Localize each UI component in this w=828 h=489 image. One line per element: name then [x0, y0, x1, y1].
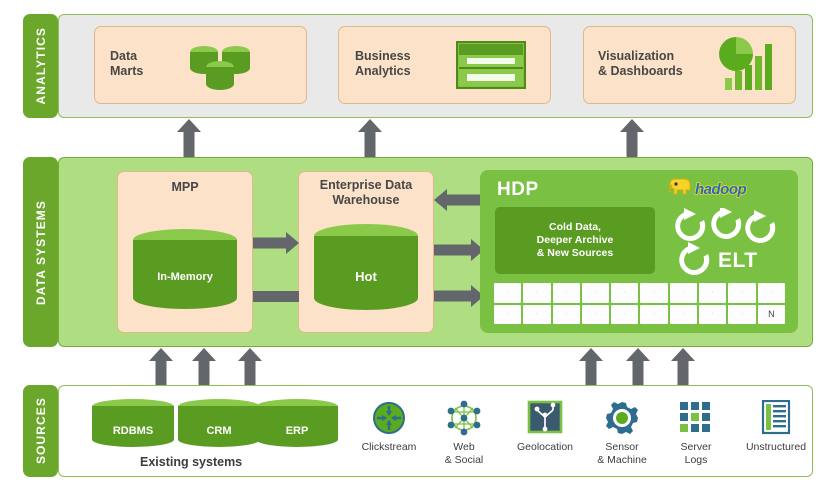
hadoop-elephant-icon	[667, 176, 693, 202]
hdp-node-grid: ···················N	[494, 283, 785, 324]
arrow-source-to-ds-1	[148, 348, 174, 386]
data-marts-cylinders-icon	[185, 36, 255, 92]
source-cylinder-crm: CRM	[178, 399, 260, 447]
source-icon-sensor-machine[interactable]: Sensor & Machine	[578, 398, 666, 466]
arrow-edw-to-analytics	[357, 119, 383, 161]
hdp-node-cell: ·	[523, 305, 550, 325]
hdp-node-cell: ·	[582, 305, 609, 325]
arrow-mpp-to-edw	[253, 232, 299, 254]
hdp-node-cell: N	[758, 305, 785, 325]
hdp-node-cell: ·	[699, 283, 726, 303]
hadoop-logo: hadoop	[667, 177, 789, 201]
source-icon-server-logs[interactable]: Server Logs	[660, 398, 732, 466]
unstructured-document-icon	[730, 398, 822, 438]
edw-title: Enterprise Data Warehouse	[300, 178, 432, 208]
hdp-node-cell: ·	[553, 305, 580, 325]
edw-hot-cylinder: Hot	[314, 224, 418, 310]
source-cylinder-crm-label: CRM	[178, 425, 260, 437]
arrow-hdp-to-analytics	[619, 119, 645, 161]
source-cylinder-rdbms: RDBMS	[92, 399, 174, 447]
source-cylinder-erp: ERP	[256, 399, 338, 447]
hdp-node-cell: ·	[728, 305, 755, 325]
source-cylinder-erp-label: ERP	[256, 425, 338, 437]
layer-label-data-systems: DATA SYSTEMS	[34, 200, 48, 305]
arrow-source-to-ds-5	[625, 348, 651, 386]
arrow-source-to-ds-3	[237, 348, 263, 386]
arrow-mpp-to-analytics	[176, 119, 202, 161]
source-icon-server-logs-label: Server Logs	[660, 441, 732, 466]
layer-tab-data-systems: DATA SYSTEMS	[23, 157, 58, 347]
hdp-node-cell: ·	[611, 283, 638, 303]
hdp-node-cell: ·	[582, 283, 609, 303]
arrow-source-to-ds-4	[578, 348, 604, 386]
existing-systems-label: Existing systems	[140, 455, 242, 469]
analytics-card-data-marts-label: Data Marts	[110, 49, 143, 79]
source-icon-web-social[interactable]: Web & Social	[425, 398, 503, 466]
arrow-hdp-to-edw	[434, 189, 484, 211]
hdp-node-cell: ·	[494, 305, 521, 325]
source-icon-clickstream[interactable]: Clickstream	[345, 398, 433, 454]
layer-tab-analytics: ANALYTICS	[23, 14, 58, 118]
mpp-title: MPP	[117, 180, 253, 195]
hdp-node-cell: ·	[758, 283, 785, 303]
hadoop-logo-text: hadoop	[695, 181, 746, 198]
arrow-source-to-ds-6	[670, 348, 696, 386]
connector-bar-mpp-edw	[253, 291, 299, 302]
web-social-network-icon	[425, 398, 503, 438]
hdp-node-cell: ·	[640, 283, 667, 303]
hdp-node-cell: ·	[553, 283, 580, 303]
architecture-diagram: ANALYTICS Data Marts Business Analytics	[0, 0, 828, 489]
hdp-cold-data-label: Cold Data, Deeper Archive & New Sources	[537, 221, 614, 260]
layer-label-sources: SOURCES	[34, 397, 48, 464]
hdp-cold-data-box: Cold Data, Deeper Archive & New Sources	[495, 207, 655, 274]
arrow-edw-to-hdp-upper	[434, 239, 484, 261]
arrow-source-to-ds-2	[191, 348, 217, 386]
sensor-gear-icon	[578, 398, 666, 438]
clickstream-icon	[345, 398, 433, 438]
source-icon-sensor-machine-label: Sensor & Machine	[578, 441, 666, 466]
edw-cylinder-label: Hot	[314, 269, 418, 284]
source-icon-unstructured[interactable]: Unstructured	[730, 398, 822, 454]
hdp-elt-label: ELT	[718, 249, 758, 273]
mpp-in-memory-cylinder: In-Memory	[133, 229, 237, 309]
hdp-node-cell: ·	[494, 283, 521, 303]
layer-tab-sources: SOURCES	[23, 385, 58, 477]
server-logs-grid-icon	[660, 398, 732, 438]
hdp-node-cell: ·	[670, 305, 697, 325]
analytics-card-visualization-label: Visualization & Dashboards	[598, 49, 683, 79]
hdp-node-cell: ·	[728, 283, 755, 303]
analytics-card-business-analytics-label: Business Analytics	[355, 49, 411, 79]
hdp-node-cell: ·	[523, 283, 550, 303]
pie-bar-chart-icon	[716, 34, 778, 92]
hdp-title: HDP	[497, 179, 539, 201]
hdp-node-cell: ·	[670, 283, 697, 303]
source-icon-unstructured-label: Unstructured	[730, 441, 822, 454]
source-icon-clickstream-label: Clickstream	[345, 441, 433, 454]
source-cylinder-rdbms-label: RDBMS	[92, 425, 174, 437]
hdp-node-cell: ·	[611, 305, 638, 325]
layer-label-analytics: ANALYTICS	[34, 27, 48, 104]
source-icon-web-social-label: Web & Social	[425, 441, 503, 466]
arrow-edw-to-hdp-lower	[434, 285, 484, 307]
hdp-node-cell: ·	[699, 305, 726, 325]
mpp-cylinder-label: In-Memory	[133, 271, 237, 283]
report-table-icon	[456, 41, 526, 89]
hdp-node-cell: ·	[640, 305, 667, 325]
